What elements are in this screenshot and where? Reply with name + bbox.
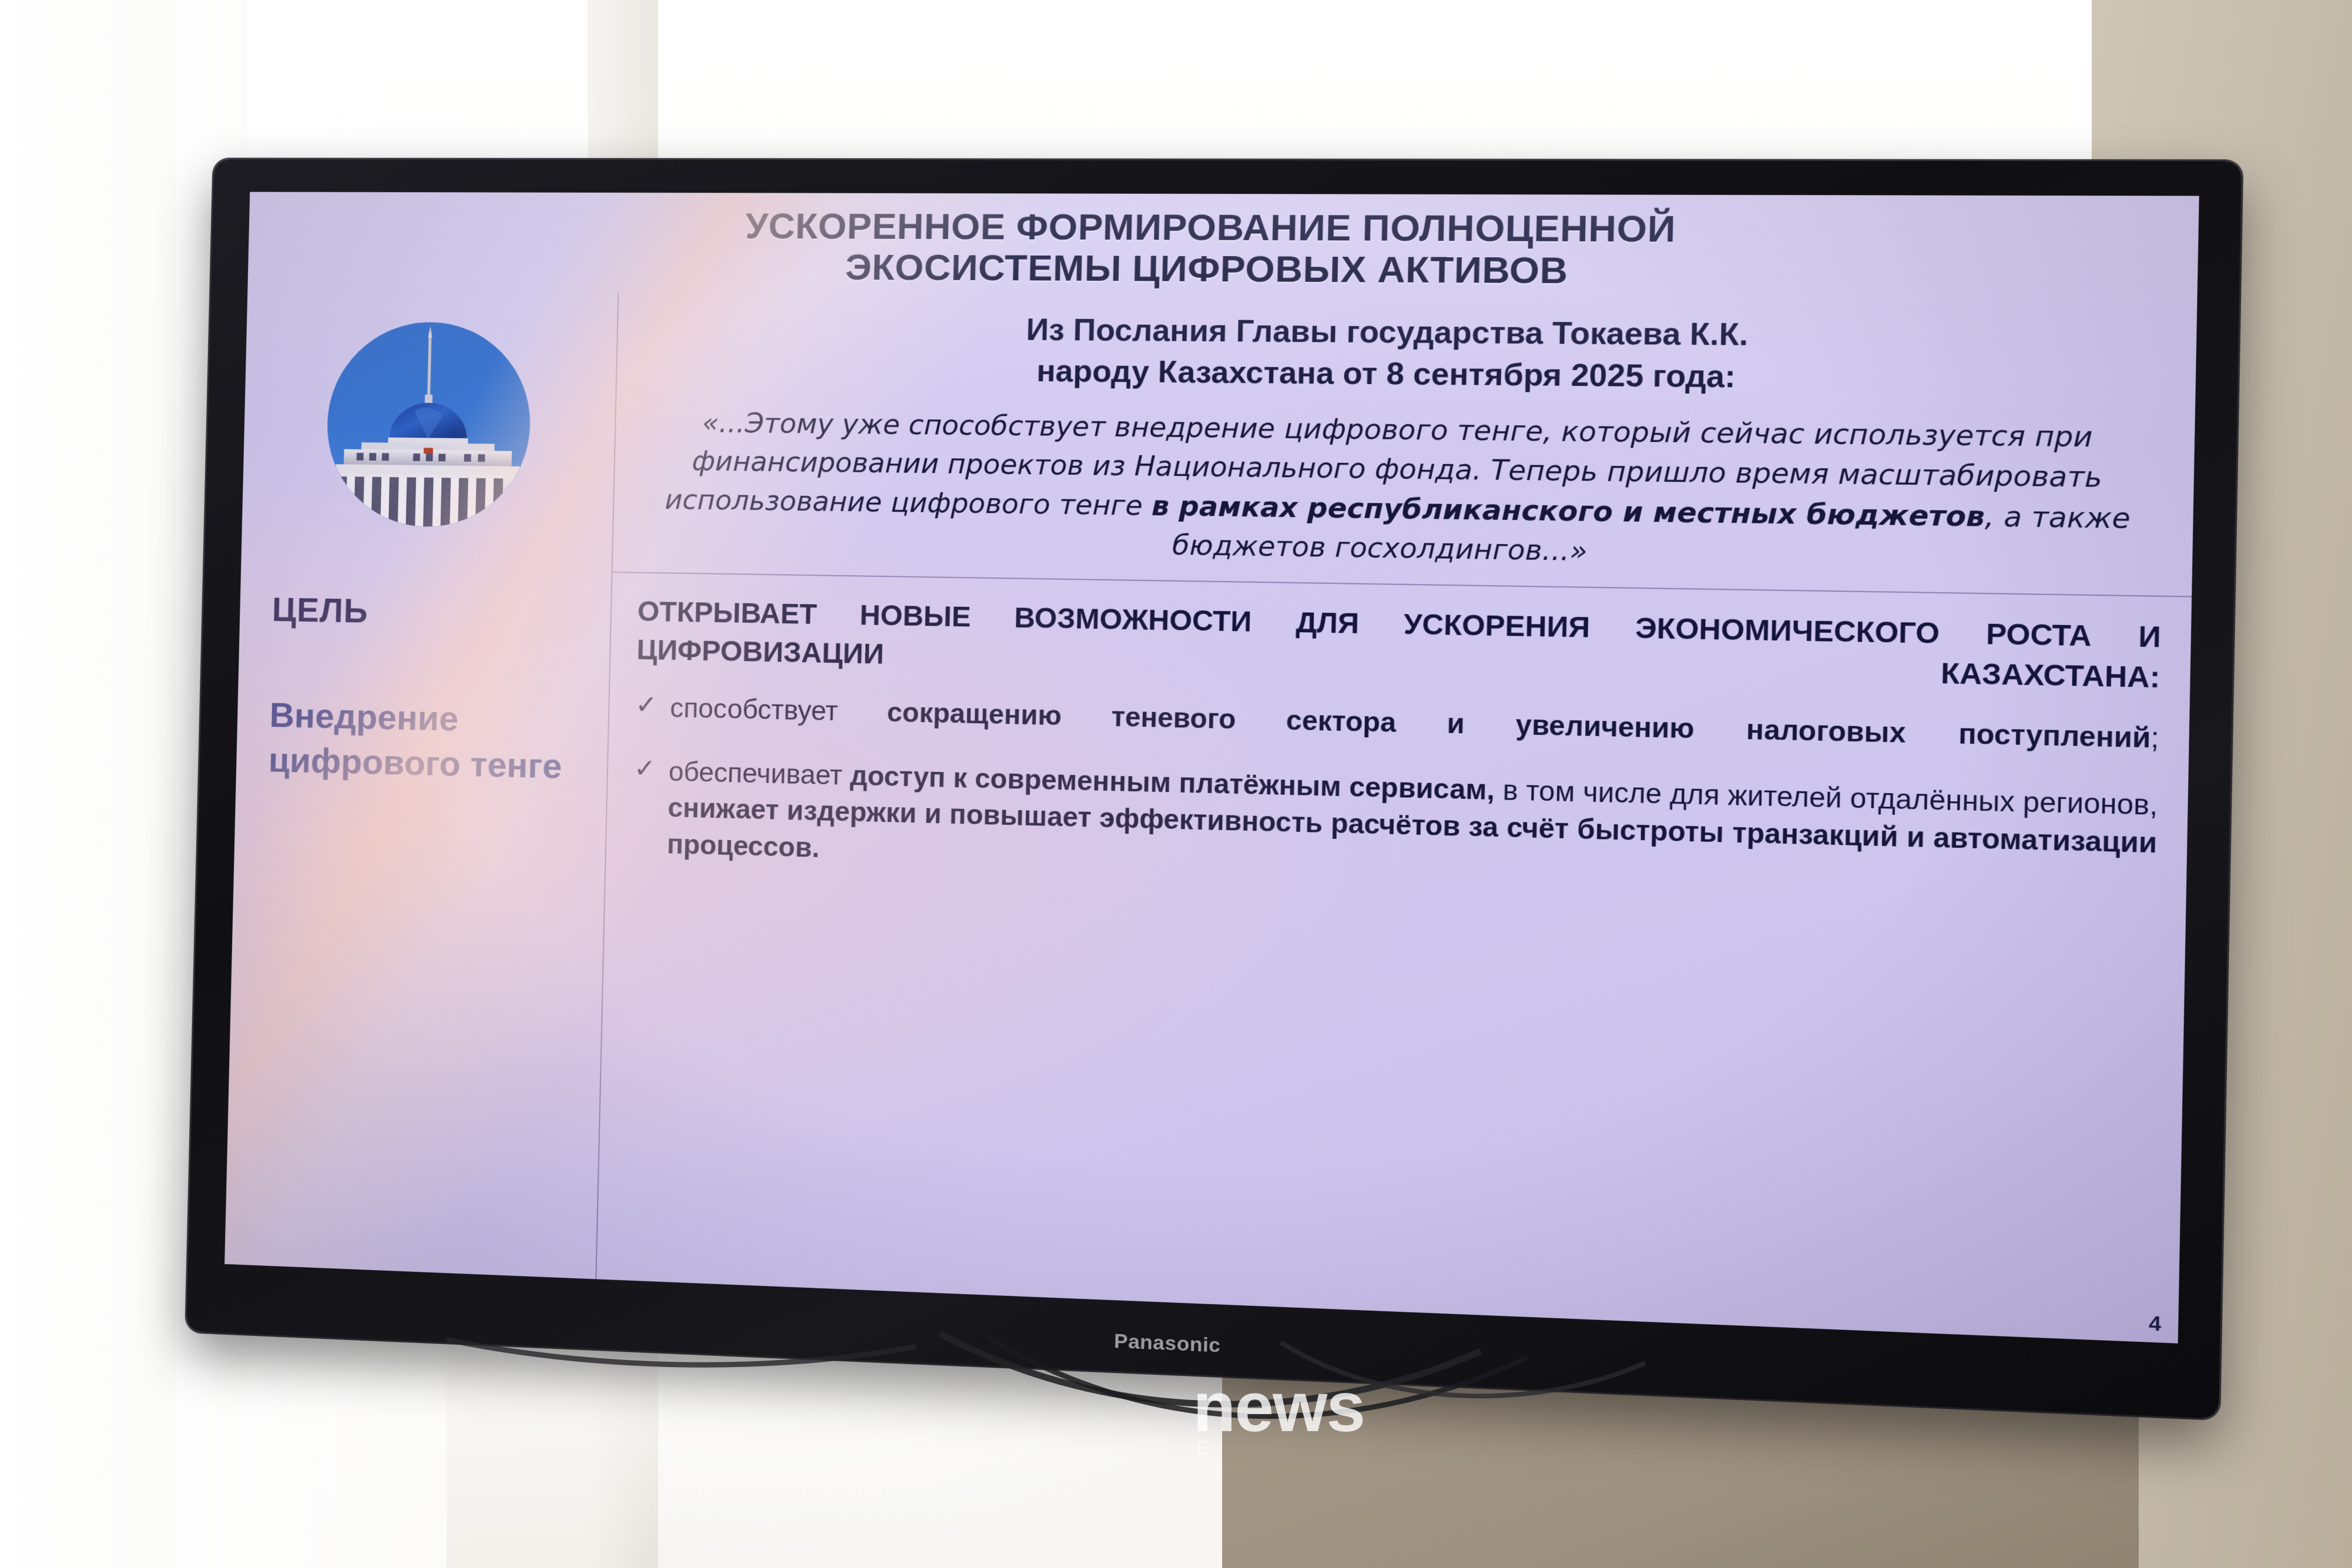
tv-screen: УСКОРЕННОЕ ФОРМИРОВАНИЕ ПОЛНОЦЕННОЙ ЭКОС… xyxy=(224,192,2199,1344)
slide-page-number: 4 xyxy=(2149,1312,2162,1337)
quote-part-bold-1: в рамках республиканского и местных бюдж… xyxy=(1151,489,1985,533)
watermark-text: news xyxy=(1193,1368,1364,1446)
slide-title-line-2: ЭКОСИСТЕМЫ ЦИФРОВЫХ АКТИВОВ xyxy=(316,245,2146,295)
list-item: ✓ способствует сокращению теневого секто… xyxy=(635,689,2160,757)
presidential-address-quote: Из Послания Главы государства Токаева К.… xyxy=(613,293,2197,597)
slide-left-column: ЦЕЛЬ Внедрение цифрового тенге xyxy=(224,291,619,1279)
opportunities-list: ✓ способствует сокращению теневого секто… xyxy=(632,689,2159,901)
goal-block: ЦЕЛЬ Внедрение цифрового тенге xyxy=(224,555,612,1279)
checkmark-icon: ✓ xyxy=(633,753,656,785)
bullet-1-plain-1: способствует xyxy=(670,692,888,727)
goal-label: ЦЕЛЬ xyxy=(271,590,610,634)
quote-heading: Из Послания Главы государства Токаева К.… xyxy=(643,307,2162,402)
akorda-palace-image xyxy=(325,322,532,528)
slide-title-line-1: УСКОРЕННОЕ ФОРМИРОВАНИЕ ПОЛНОЦЕННОЙ xyxy=(317,205,2147,253)
list-item: ✓ обеспечивает доступ к современным плат… xyxy=(632,753,2158,901)
goal-text: Внедрение цифрового тенге xyxy=(268,693,609,790)
bullet-text: обеспечивает доступ к современным платёж… xyxy=(666,753,2158,901)
akorda-image-container xyxy=(241,291,618,560)
opportunities-heading: ОТКРЫВАЕТ НОВЫЕ ВОЗМОЖНОСТИ ДЛЯ УСКОРЕНИ… xyxy=(636,593,2162,698)
palace-illustration xyxy=(325,322,532,528)
quote-text: «...Этому уже способствует внедрение циф… xyxy=(639,403,2160,579)
slide-right-column: Из Послания Главы государства Токаева К.… xyxy=(596,293,2197,1344)
bullet-1-bold-1: сокращению теневого сектора и увеличению… xyxy=(887,696,2151,753)
opportunities-block: ОТКРЫВАЕТ НОВЫЕ ВОЗМОЖНОСТИ ДЛЯ УСКОРЕНИ… xyxy=(596,573,2192,1343)
presentation-slide: УСКОРЕННОЕ ФОРМИРОВАНИЕ ПОЛНОЦЕННОЙ ЭКОС… xyxy=(224,192,2199,1344)
slide-title: УСКОРЕННОЕ ФОРМИРОВАНИЕ ПОЛНОЦЕННОЙ ЭКОС… xyxy=(247,192,2199,302)
bullet-2-plain-1: обеспечивает xyxy=(668,756,850,790)
television: УСКОРЕННОЕ ФОРМИРОВАНИЕ ПОЛНОЦЕННОЙ ЭКОС… xyxy=(186,159,2242,1419)
slide-body: ЦЕЛЬ Внедрение цифрового тенге Из Послан… xyxy=(224,291,2197,1344)
news-watermark: news E xyxy=(1193,1375,1364,1458)
checkmark-icon: ✓ xyxy=(635,689,657,721)
bullet-1-plain-2: ; xyxy=(2150,721,2159,754)
bullet-text: способствует сокращению теневого сектора… xyxy=(670,690,2160,757)
